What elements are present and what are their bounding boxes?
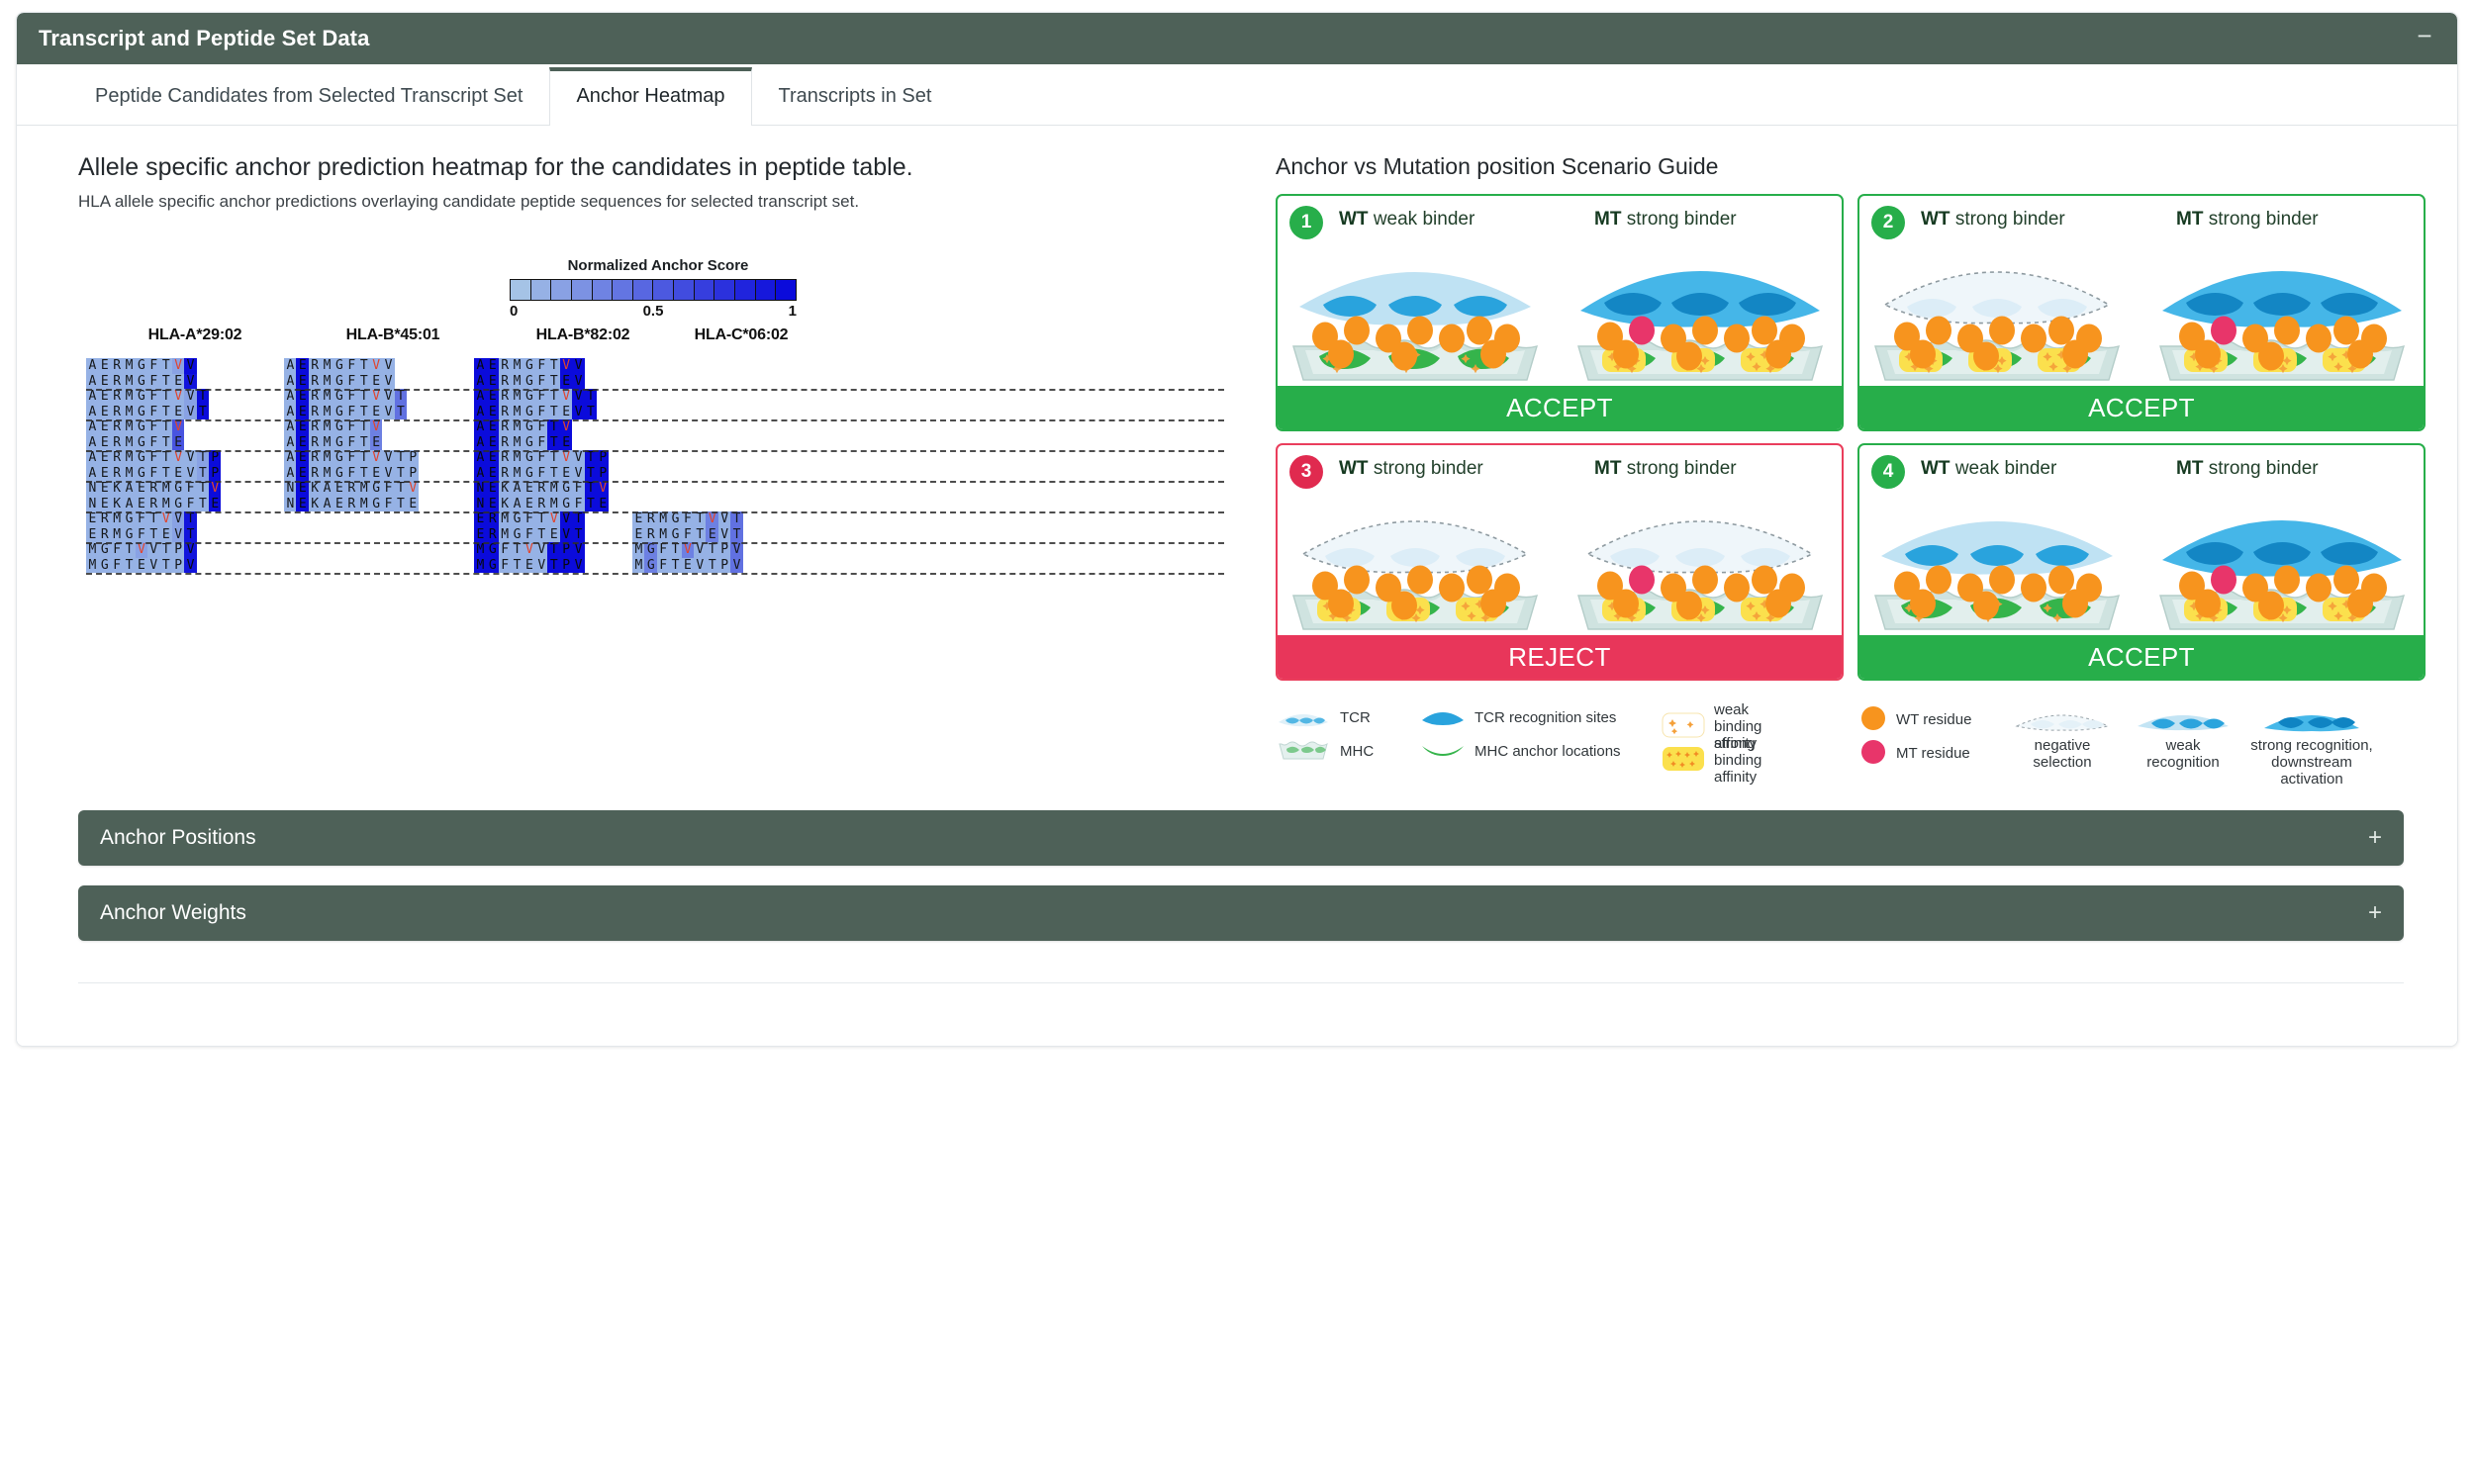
heatmap-cell: R [486,511,498,527]
heatmap-cell: G [123,511,135,527]
app-root: Transcript and Peptide Set Data − Peptid… [0,0,2474,1484]
heatmap-cell: T [572,527,584,543]
heatmap-cell: F [535,466,547,482]
heatmap-row: MGFTEVTPV [632,558,743,574]
heatmap-cell: R [309,389,321,405]
footer-divider [78,982,2404,983]
heatmap-cell: V [560,527,572,543]
colorbar-step [633,280,654,300]
heatmap-cell: G [172,481,184,497]
heatmap-cell: E [486,481,498,497]
wt-residue [1391,342,1417,371]
heatmap-cell: R [111,419,123,435]
heatmap-cell: E [682,558,694,574]
heatmap-cell: T [547,450,559,466]
heatmap-cell: M [123,374,135,390]
wt-complex-diagram [1867,481,2127,629]
heatmap-cell: V [560,511,572,527]
heatmap-cell: V [184,389,196,405]
transcript-peptide-card: Transcript and Peptide Set Data − Peptid… [16,12,2458,1047]
heatmap-cell: T [669,558,681,574]
heatmap-cell: V [382,405,394,420]
legend-label: TCR [1340,710,1371,727]
heatmap-cell: T [730,527,742,543]
heatmap-cell: V [682,542,694,558]
heatmap-row: AERMGFTVVT [284,389,407,405]
heatmap-cell: G [560,481,572,497]
heatmap-cell: T [197,481,209,497]
heatmap-cell: M [321,435,333,451]
heatmap-cell: E [136,558,147,574]
legend-item-strong-affinity: strong binding affinity [1662,736,1770,786]
heatmap-cell: F [382,481,394,497]
heatmap-cell: R [535,481,547,497]
heatmap-cell: T [585,481,597,497]
wt-residue [2258,342,2284,371]
heatmap-rows: AERMGFTVVAERMGFTEVAERMGFTVVTAERMGFTEVTAE… [78,358,1226,574]
heatmap-plot: HLA-A*29:02 HLA-B*45:01 HLA-B*82:02 HLA-… [78,326,1226,574]
heatmap-cell: T [585,497,597,512]
heatmap-cell: T [669,542,681,558]
heatmap-cell: V [370,450,382,466]
heatmap-cell: R [499,358,511,374]
heatmap-cell: R [345,481,357,497]
heatmap-row: ERMGFTVVT [86,511,197,527]
tcr-icon [1276,704,1331,732]
heatmap-cell: A [123,497,135,512]
heatmap-cell: E [407,497,419,512]
heatmap-cell: T [357,450,369,466]
wt-residue [1724,325,1750,353]
heatmap-cell: V [572,542,584,558]
heatmap-cell: G [523,389,535,405]
heatmap-cell: V [572,374,584,390]
heatmap-cell: E [98,405,110,420]
heatmap-row: AERMGFTE [86,435,184,451]
heatmap-cell: T [159,419,171,435]
scenario-wt-label: WT strong binder [1339,458,1483,480]
heatmap-cell: F [184,481,196,497]
heatmap-cell: T [395,389,407,405]
heatmap-cell: K [309,497,321,512]
heatmap-row: AERMGFTEVT [86,405,209,420]
heatmap-cell: V [730,542,742,558]
heatmap-cell: M [632,542,644,558]
colorbar-step [613,280,633,300]
accordion-anchor-weights-label: Anchor Weights [100,901,246,925]
heatmap-row: AERMGFTEVT [474,405,597,420]
heatmap-cell: V [572,558,584,574]
heatmap-cell: R [644,527,656,543]
wt-residue [1613,340,1639,369]
heatmap-cell: F [572,497,584,512]
heatmap-cell: E [706,527,717,543]
heatmap-cell: E [136,497,147,512]
heatmap-cell: G [123,527,135,543]
colorbar-tick-min: 0 [510,303,518,320]
heatmap-cell: G [511,527,523,543]
heatmap-cell: T [395,450,407,466]
heatmap-cell: A [474,358,486,374]
heatmap-cell: R [486,527,498,543]
colorbar-step [531,280,552,300]
heatmap-cell: R [499,466,511,482]
heatmap-cell: F [682,527,694,543]
heatmap-cell: E [98,497,110,512]
heatmap-cell: R [111,466,123,482]
accordion-anchor-weights[interactable]: Anchor Weights + [78,885,2404,941]
legend-item-mt-residue: MT residue [1859,738,1970,770]
heatmap-cell: A [284,358,296,374]
heatmap-cell: V [572,358,584,374]
heatmap-cell: G [333,389,345,405]
plus-icon[interactable]: + [2368,826,2382,850]
scenario-card-2[interactable]: 2 WT strong binder MT strong binder [1857,194,2426,431]
heatmap-cell: V [136,542,147,558]
heatmap-cell: T [357,358,369,374]
wt-residue [2306,325,2331,353]
heatmap-cell: M [123,419,135,435]
wt-residue [1910,340,1936,369]
heatmap-row: MGFTEVTPV [86,558,197,574]
heatmap-cell: E [486,466,498,482]
heatmap-cell: T [585,450,597,466]
heatmap-cell: E [296,405,308,420]
heatmap-cell: R [111,389,123,405]
scenario-verdict: ACCEPT [1859,635,2424,679]
heatmap-cell: E [296,481,308,497]
heatmap-cell: P [209,466,221,482]
heatmap-cell: K [309,481,321,497]
heatmap-cell: M [159,497,171,512]
wt-residue [1467,317,1492,345]
wt-residue [2195,590,2221,618]
heatmap-row: AERMGFTVVTP [474,450,609,466]
scenario-card-3[interactable]: 3 WT strong binder MT strong binder [1276,443,1844,681]
card-header: Transcript and Peptide Set Data − [17,13,2457,64]
heatmap-cell: A [474,405,486,420]
heatmap-cell: M [511,435,523,451]
heatmap-cell: E [486,405,498,420]
heatmap-cell: M [321,389,333,405]
heatmap-cell: P [172,542,184,558]
heatmap-cell: N [86,481,98,497]
heatmap-cell: G [98,558,110,574]
heatmap-cell: R [309,358,321,374]
heatmap-cell: M [511,419,523,435]
heatmap-cell: E [296,419,308,435]
heatmap-cell: V [694,558,706,574]
plus-icon[interactable]: + [2368,901,2382,925]
wt-residue [2333,566,2359,595]
heatmap-cell: F [535,419,547,435]
heatmap-cell: F [147,419,159,435]
heatmap-cell: G [511,511,523,527]
heatmap-cell: G [333,358,345,374]
mt-complex-diagram [2152,481,2412,629]
heatmap-cell: T [395,405,407,420]
heatmap-row: NEKAERMGFTV [474,481,609,497]
colorbar-step [593,280,614,300]
heatmap-cell: R [111,374,123,390]
heatmap-cell: F [657,558,669,574]
heatmap-cell: E [632,511,644,527]
heatmap-cell: M [123,389,135,405]
heatmap-cell: E [98,374,110,390]
heatmap-cell: V [382,389,394,405]
tab-peptide-candidates[interactable]: Peptide Candidates from Selected Transcr… [68,70,549,126]
scenario-verdict: ACCEPT [1278,386,1842,429]
heatmap-cell: M [123,405,135,420]
heatmap-cell: N [86,497,98,512]
heatmap-cell: E [523,481,535,497]
wt-residue [2048,566,2074,595]
heatmap-row: ERMGFTEVT [86,527,197,543]
heatmap-cell: E [86,511,98,527]
heatmap-cell: V [382,450,394,466]
heatmap-cell: F [345,435,357,451]
heatmap-cell: V [694,542,706,558]
scenario-mt-label: MT strong binder [1594,209,1737,231]
heatmap-cell: M [321,450,333,466]
heatmap-cell: P [597,450,609,466]
heatmap-cell: A [284,374,296,390]
heatmap-cell: M [123,435,135,451]
heatmap-cell: G [333,419,345,435]
heatmap-cell: V [184,542,196,558]
heatmap-cell: E [86,527,98,543]
heatmap-cell: M [321,358,333,374]
heatmap-row: NEKAERMGFTV [86,481,221,497]
heatmap-row: NEKAERMGFTV [284,481,419,497]
heatmap-cell: T [159,435,171,451]
heatmap-cell: V [382,466,394,482]
heatmap-cell: E [560,466,572,482]
heatmap-cell: E [98,481,110,497]
heatmap-cell: R [535,497,547,512]
heatmap-row: AERMGFTVVTP [284,450,419,466]
heatmap-cell: E [597,497,609,512]
heatmap-cell: V [147,558,159,574]
heatmap-cell: M [86,558,98,574]
legend-item-weak-recog: weak recognition [2129,702,2237,772]
colorbar-step [551,280,572,300]
wt-residue [2062,590,2088,618]
heatmap-cell: T [357,389,369,405]
heatmap-cell: G [523,450,535,466]
colorbar-gradient [510,279,797,301]
scenario-verdict: REJECT [1278,635,1842,679]
heatmap-cell: G [136,419,147,435]
heatmap-row: AERMGFTVV [86,358,197,374]
heatmap-cell: A [86,405,98,420]
heatmap-cell: E [172,435,184,451]
legend-item-tcr-sites: TCR recognition sites [1420,706,1616,730]
heatmap-cell: R [345,497,357,512]
heatmap-cell: T [547,389,559,405]
heatmap-cell: V [730,558,742,574]
scenario-wt-label: WT strong binder [1921,209,2065,231]
heatmap-cell: T [357,419,369,435]
tab-transcripts-in-set[interactable]: Transcripts in Set [752,70,959,126]
heatmap-cell: V [184,450,196,466]
scenario-card-1[interactable]: 1 WT weak binder MT strong binder [1276,194,1844,431]
heatmap-cell: G [333,374,345,390]
heatmap-cell: A [86,435,98,451]
wt-residue [1391,592,1417,620]
scenario-illustration: 2 WT strong binder MT strong binder [1859,196,2424,386]
heatmap-row: AERMGFTVVT [474,389,597,405]
heatmap-cell: T [357,405,369,420]
heatmap-cell: T [147,511,159,527]
accordion-anchor-positions-label: Anchor Positions [100,826,256,850]
heatmap-cell: A [474,389,486,405]
strong-recog-icon [2262,702,2361,736]
heatmap-cell: T [706,542,717,558]
heatmap-cell: K [499,481,511,497]
accordion-anchor-positions[interactable]: Anchor Positions + [78,810,2404,866]
heatmap-cell: R [499,405,511,420]
heatmap-cell: F [345,466,357,482]
heatmap-cell: T [585,405,597,420]
heatmap-cell: V [523,542,535,558]
scenario-card-4[interactable]: 4 WT weak binder MT strong binder [1857,443,2426,681]
heatmap-cell: M [511,358,523,374]
heatmap-cell: T [395,466,407,482]
mt-residue-icon [1859,738,1887,770]
legend-item-negative: negative selection [2008,702,2117,772]
heatmap-cell: A [123,481,135,497]
heatmap-cell: N [284,481,296,497]
heatmap-row: AERMGFTE [474,435,572,451]
heatmap-cell: G [523,419,535,435]
heatmap-row: AERMGFTEV [284,374,395,390]
colorbar-step [695,280,715,300]
wt-residue [1724,574,1750,603]
heatmap-cell: A [474,435,486,451]
legend-item-wt-residue: WT residue [1859,704,1971,736]
heatmap-cell: G [523,358,535,374]
heatmap-cell: V [172,419,184,435]
wt-residue [2274,317,2300,345]
heatmap-gridline [86,542,1224,544]
heatmap-cell: R [309,374,321,390]
heatmap-cell: V [184,405,196,420]
wt-residue-icon [1859,704,1887,736]
colorbar-step [776,280,796,300]
heatmap-cell: G [523,374,535,390]
heatmap-cell: E [172,374,184,390]
heatmap-cell: M [111,527,123,543]
legend-item-tcr: TCR [1276,704,1371,732]
heatmap-cell: R [111,405,123,420]
heatmap-cell: E [370,466,382,482]
heatmap-cell: T [585,466,597,482]
tab-anchor-heatmap[interactable]: Anchor Heatmap [549,67,751,126]
heatmap-cell: G [486,558,498,574]
heatmap-cell: M [499,527,511,543]
heatmap-cell: E [296,389,308,405]
wt-residue [1989,566,2015,595]
heatmap-cell: A [86,419,98,435]
legend-item-mhc-anchors: MHC anchor locations [1420,740,1621,764]
heatmap-cell: T [147,527,159,543]
heatmap-cell: N [474,497,486,512]
wt-residue [1752,566,1777,595]
legend-label: WT residue [1896,712,1971,729]
heatmap-row: AERMGFTVVTP [86,450,221,466]
legend-label: negative selection [2008,738,2117,772]
heatmap-cell: E [296,435,308,451]
legend-label: MHC anchor locations [1475,744,1621,761]
heatmap-cell: T [535,511,547,527]
heatmap-cell: G [560,497,572,512]
wt-residue [1676,342,1702,371]
heatmap-cell: T [159,405,171,420]
heatmap-cell: G [136,405,147,420]
allele-header-3: HLA-C*06:02 [632,326,850,344]
heatmap-cell: F [535,405,547,420]
minimize-icon[interactable]: − [2412,25,2437,50]
anchor-heatmap-figure: Normalized Anchor Score 0 0.5 1 HLA-A*29… [78,249,1226,586]
heatmap-cell: M [547,497,559,512]
heatmap-cell: K [111,497,123,512]
heatmap-cell: V [572,466,584,482]
heatmap-cell: F [499,558,511,574]
heatmap-cell: A [86,389,98,405]
wt-complex-diagram [1285,481,1545,629]
wt-residue [1439,325,1465,353]
heatmap-cell: M [499,511,511,527]
heatmap-cell: E [632,527,644,543]
heatmap-cell: M [511,374,523,390]
heatmap-cell: F [682,511,694,527]
heatmap-cell: R [111,450,123,466]
legend-label: TCR recognition sites [1475,710,1616,727]
heatmap-subheading: HLA allele specific anchor predictions o… [78,192,1226,212]
mt-residue [1629,566,1655,595]
heatmap-cell: T [547,466,559,482]
scenario-legend: TCR MHC TCR recognition sites MHC anchor… [1276,702,2426,782]
wt-residue [1467,566,1492,595]
heatmap-cell: M [321,466,333,482]
heatmap-row: ERMGFTVVT [632,511,743,527]
wt-residue [2258,592,2284,620]
heatmap-cell: F [382,497,394,512]
colorbar-step [714,280,735,300]
heatmap-cell: E [333,481,345,497]
heatmap-cell: V [184,374,196,390]
heatmap-cell: R [309,435,321,451]
heatmap-cell: V [370,419,382,435]
heatmap-cell: T [511,558,523,574]
heatmap-cell: F [345,405,357,420]
heatmap-gridline [86,419,1224,421]
scenario-illustration: 4 WT weak binder MT strong binder [1859,445,2424,635]
heatmap-row: NEKAERMGFTE [86,497,221,512]
heatmap-cell: F [136,527,147,543]
heatmap-cell: A [474,450,486,466]
heatmap-cell: E [296,497,308,512]
heatmap-cell: T [197,405,209,420]
heatmap-cell: V [407,481,419,497]
wt-residue [1676,592,1702,620]
legend-label: MT residue [1896,746,1970,763]
heatmap-cell: M [657,511,669,527]
heatmap-cell: F [535,358,547,374]
scenario-mt-label: MT strong binder [2176,458,2319,480]
wt-residue [2306,574,2331,603]
